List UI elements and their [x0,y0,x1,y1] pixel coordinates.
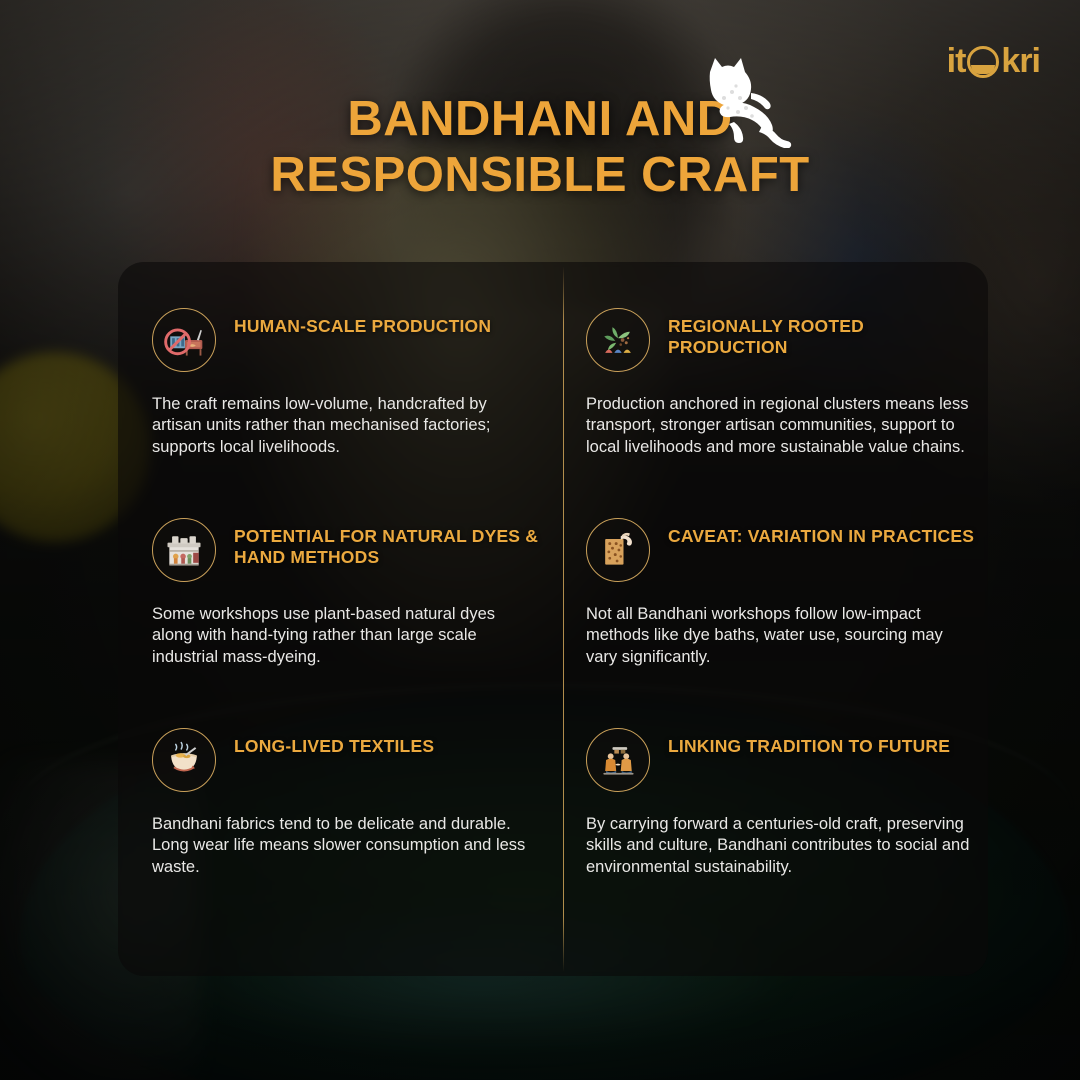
card-regionally-rooted-production: REGIONALLY ROOTED PRODUCTION Production … [563,262,988,472]
card-long-lived-textiles: LONG-LIVED TEXTILES Bandhani fabrics ten… [118,682,563,892]
page-title-line-1: BANDHANI AND [0,92,1080,148]
card-header: LONG-LIVED TEXTILES [118,682,563,792]
card-linking-tradition-to-future: LINKING TRADITION TO FUTURE By carrying … [563,682,988,892]
card-title: LINKING TRADITION TO FUTURE [668,728,950,757]
two-artisans-seated-icon [586,728,650,792]
card-body: Some workshops use plant-based natural d… [118,582,563,668]
brand-logo-basket-icon [967,46,999,78]
card-title: HUMAN-SCALE PRODUCTION [234,308,491,337]
cards-grid: HUMAN-SCALE PRODUCTION The craft remains… [118,262,988,976]
brand-logo-text-part1: it [947,42,966,81]
card-header: CAVEAT: VARIATION IN PRACTICES [563,472,988,582]
steaming-dye-pot-icon [152,728,216,792]
no-factory-machine-icon [152,308,216,372]
card-body: Bandhani fabrics tend to be delicate and… [118,792,563,878]
artisan-workshop-building-icon [152,518,216,582]
card-header: POTENTIAL FOR NATURAL DYES & HAND METHOD… [118,472,563,582]
card-title: CAVEAT: VARIATION IN PRACTICES [668,518,974,547]
leaves-and-natural-dye-powders-icon [586,308,650,372]
card-header: HUMAN-SCALE PRODUCTION [118,262,563,372]
card-header: REGIONALLY ROOTED PRODUCTION [563,262,988,372]
card-header: LINKING TRADITION TO FUTURE [563,682,988,792]
card-body: By carrying forward a centuries-old craf… [563,792,988,878]
card-title: POTENTIAL FOR NATURAL DYES & HAND METHOD… [234,518,563,568]
card-human-scale-production: HUMAN-SCALE PRODUCTION The craft remains… [118,262,563,472]
brand-logo[interactable]: it kri [947,42,1040,81]
infographic-stage: it kri BANDHANI AND RESPONSIBLE CRAFT [0,0,1080,1080]
card-body: Not all Bandhani workshops follow low-im… [563,582,988,668]
brand-logo-text-part2: kri [1001,42,1040,81]
page-title-line-2: RESPONSIBLE CRAFT [0,148,1080,204]
white-cat-illustration-icon [688,52,798,148]
card-potential-for-natural-dyes: POTENTIAL FOR NATURAL DYES & HAND METHOD… [118,472,563,682]
card-body: Production anchored in regional clusters… [563,372,988,458]
hand-holding-patterned-fabric-icon [586,518,650,582]
page-title: BANDHANI AND RESPONSIBLE CRAFT [0,92,1080,204]
card-caveat-variation-in-practices: CAVEAT: VARIATION IN PRACTICES Not all B… [563,472,988,682]
card-body: The craft remains low-volume, handcrafte… [118,372,563,458]
card-title: LONG-LIVED TEXTILES [234,728,434,757]
card-title: REGIONALLY ROOTED PRODUCTION [668,308,988,358]
